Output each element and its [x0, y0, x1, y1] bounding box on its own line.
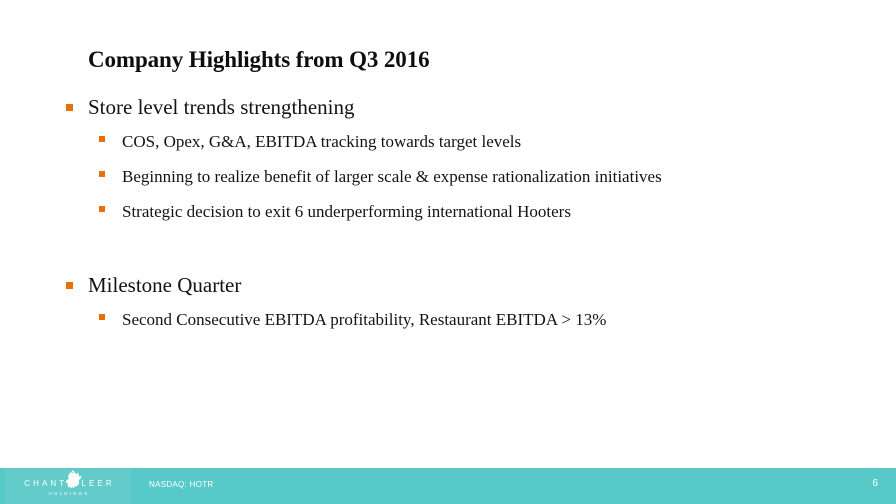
section-spacer — [0, 230, 896, 270]
page-number: 6 — [872, 478, 878, 489]
bullet-level2: Second Consecutive EBITDA profitability,… — [0, 303, 896, 336]
square-bullet-icon — [99, 136, 105, 142]
company-logo-subtitle: HOLDINGS — [5, 491, 131, 496]
ticker-label: NASDAQ: HOTR — [149, 480, 214, 489]
company-logo: CHANTICLEER HOLDINGS — [5, 468, 131, 504]
square-bullet-icon — [99, 171, 105, 177]
bullet-level1-label: Store level trends strengthening — [88, 92, 896, 123]
rooster-icon — [62, 470, 84, 490]
slide-body: Store level trends strengthening COS, Op… — [0, 92, 896, 338]
bullet-level2: COS, Opex, G&A, EBITDA tracking towards … — [0, 125, 896, 158]
bullet-level2-label: Second Consecutive EBITDA profitability,… — [122, 303, 896, 336]
square-bullet-icon — [66, 104, 73, 111]
bullet-level2-label: Beginning to realize benefit of larger s… — [122, 160, 896, 193]
bullet-level2: Strategic decision to exit 6 underperfor… — [0, 195, 896, 228]
bullet-level1: Store level trends strengthening — [0, 92, 896, 123]
slide: Company Highlights from Q3 2016 Store le… — [0, 0, 896, 504]
bullet-level1-label: Milestone Quarter — [88, 270, 896, 301]
square-bullet-icon — [99, 206, 105, 212]
bullet-level2-label: Strategic decision to exit 6 underperfor… — [122, 195, 896, 228]
square-bullet-icon — [99, 314, 105, 320]
footer-bar: CHANTICLEER HOLDINGS NASDAQ: HOTR 6 — [0, 468, 896, 504]
bullet-level1: Milestone Quarter — [0, 270, 896, 301]
page-title: Company Highlights from Q3 2016 — [88, 46, 430, 74]
square-bullet-icon — [66, 282, 73, 289]
bullet-level2: Beginning to realize benefit of larger s… — [0, 160, 896, 193]
bullet-level2-label: COS, Opex, G&A, EBITDA tracking towards … — [122, 125, 896, 158]
